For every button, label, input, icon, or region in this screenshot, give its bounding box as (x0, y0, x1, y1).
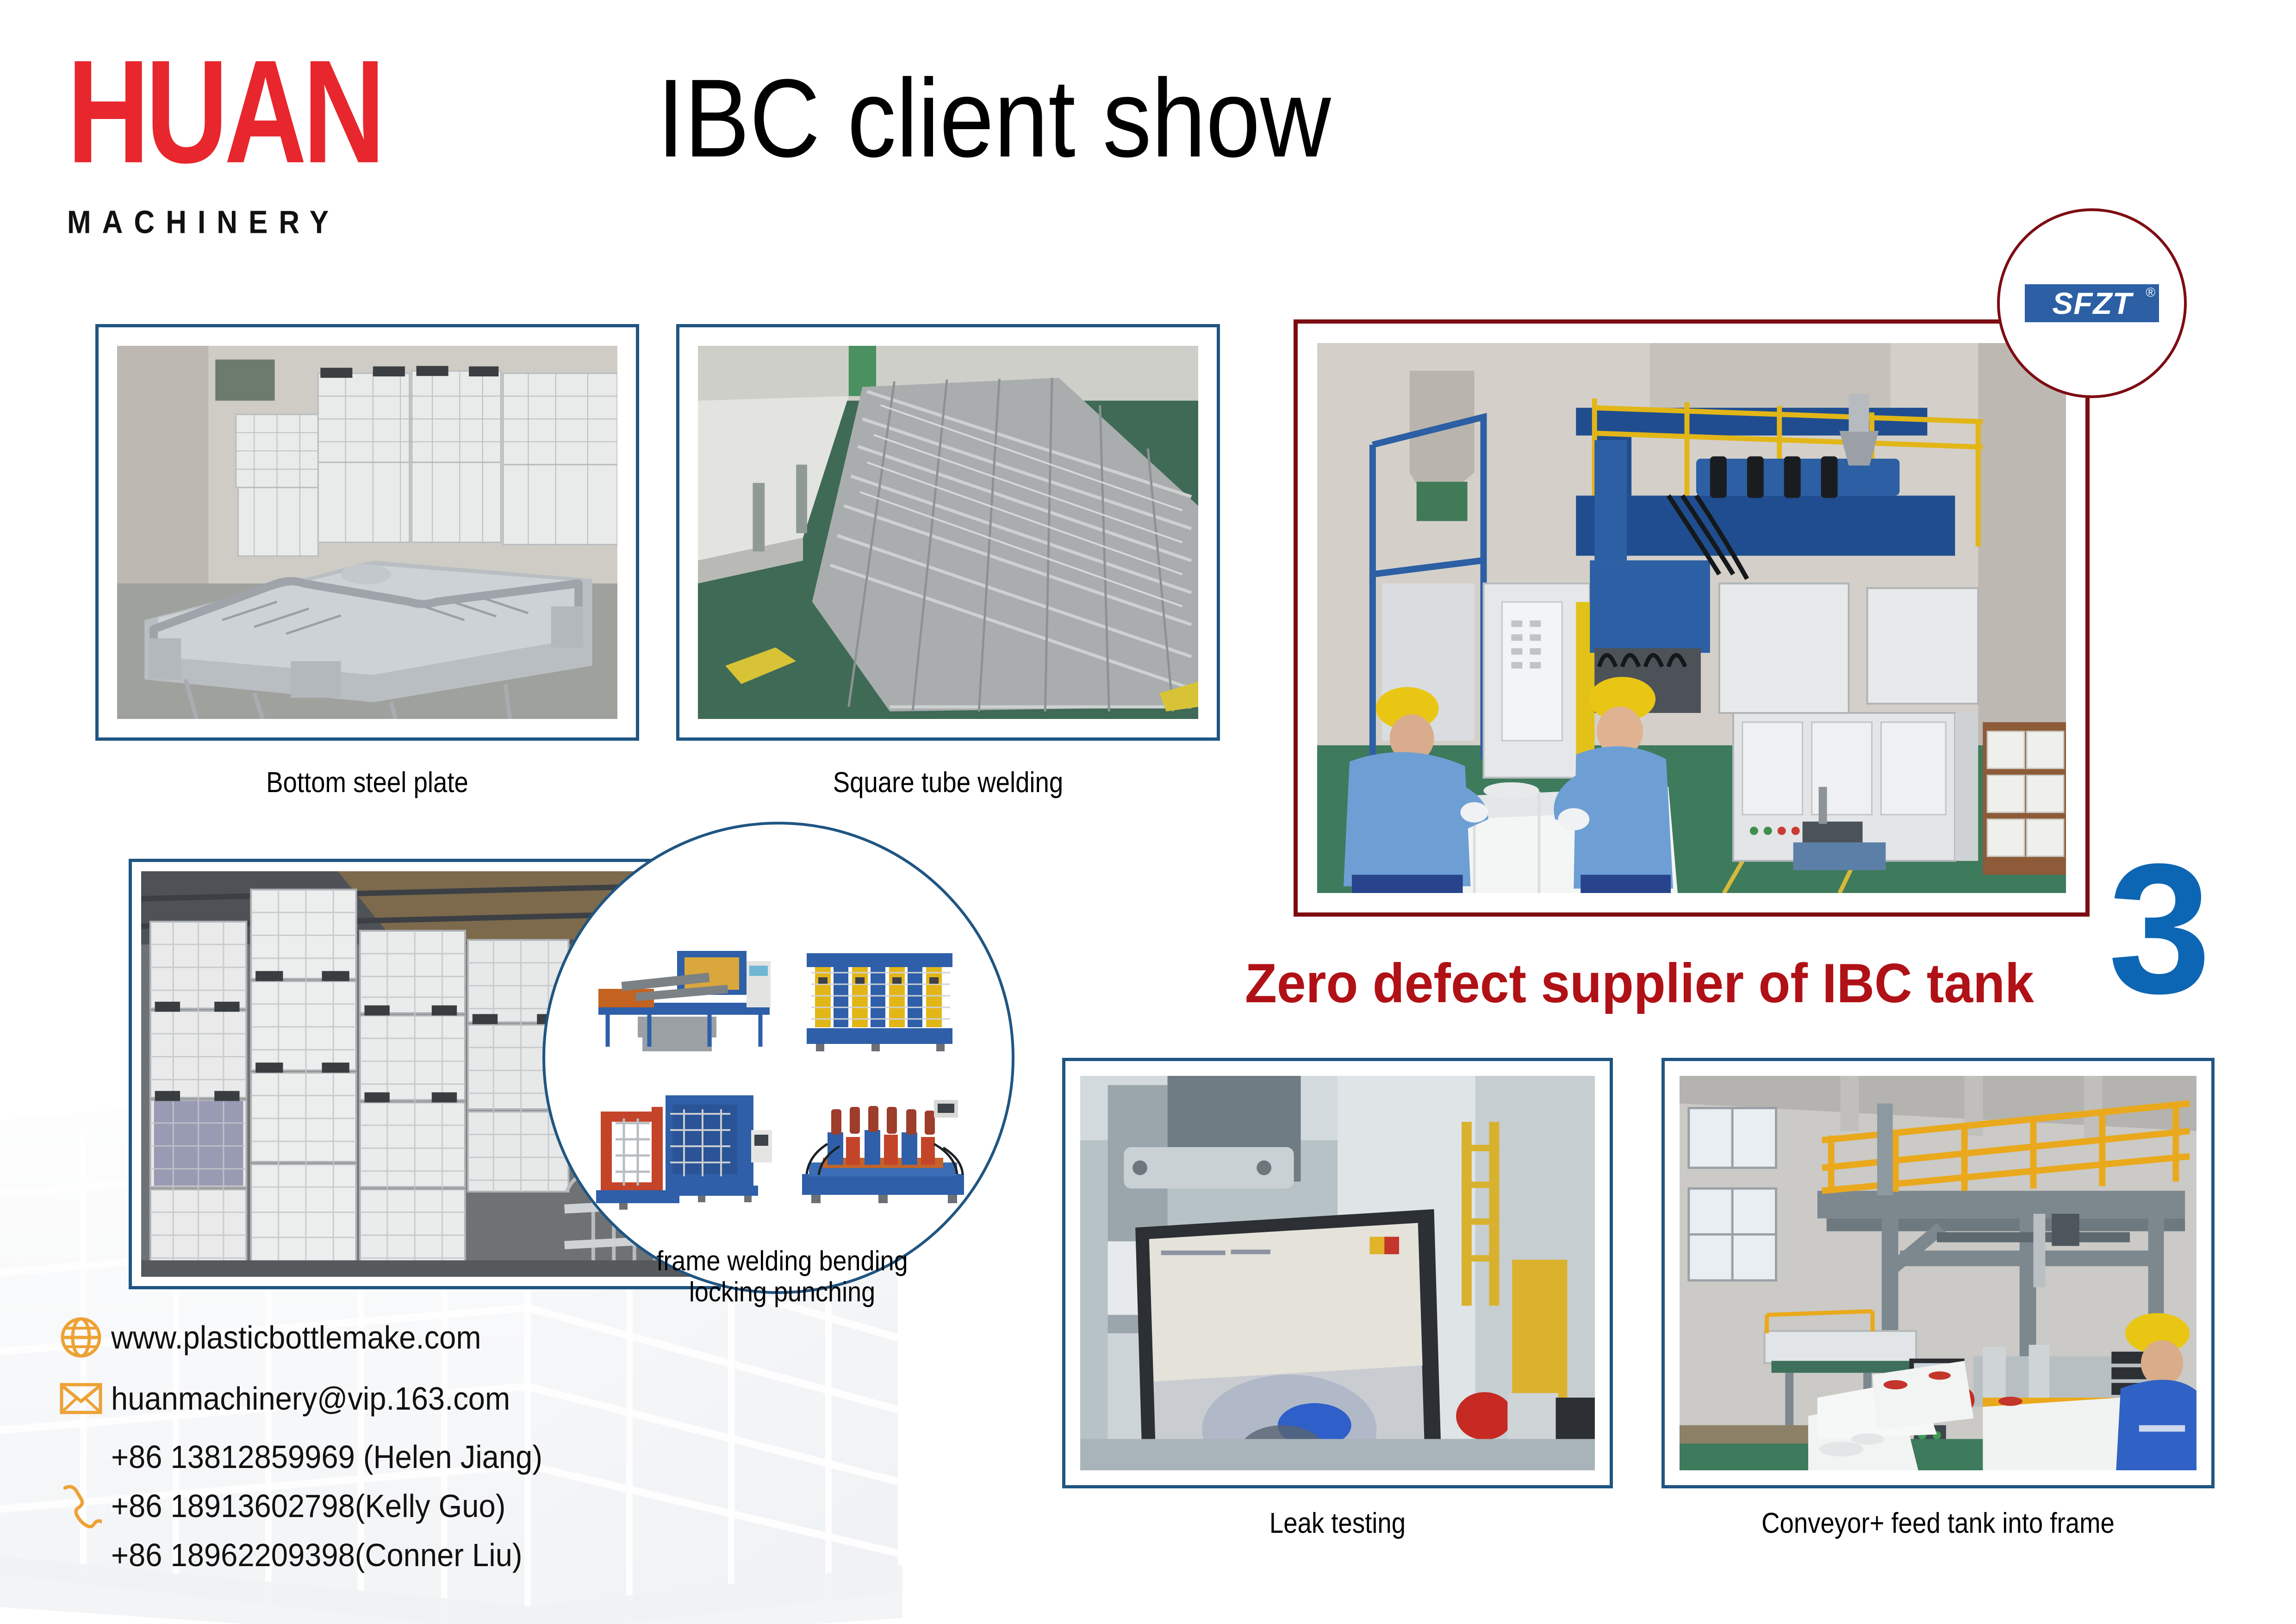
contact-phone-group: +86 13812859969 (Helen Jiang) +86 189136… (51, 1432, 699, 1580)
phone-text-1: +86 13812859969 (Helen Jiang) (111, 1438, 542, 1475)
contact-block: www.plasticbottlemake.com huanmachinery@… (51, 1310, 699, 1580)
photo-frame-conveyor-feed-tank (1661, 1058, 2215, 1488)
logo-wordmark: HUAN (67, 42, 388, 181)
caption-frame-welding-group: frame welding bending locking punching (616, 1245, 949, 1307)
photo-leak-testing (1080, 1076, 1595, 1470)
photo-frame-square-tube-welding (676, 324, 1220, 741)
sfzt-plate: SFZT ® (2025, 284, 2159, 322)
contact-row-email[interactable]: huanmachinery@vip.163.com (51, 1371, 699, 1426)
phone-icon (51, 1484, 111, 1528)
thumb-tube-bending-machine (797, 940, 959, 1056)
photo-ibc-blow-molding-line (1317, 343, 2066, 893)
contact-row-phone-3[interactable]: +86 18962209398(Conner Liu) (51, 1530, 699, 1580)
envelope-icon (51, 1381, 111, 1416)
sfzt-label: SFZT (2052, 286, 2132, 321)
photo-bottom-steel-plate (117, 346, 617, 719)
logo-subtitle: MACHINERY (67, 204, 373, 241)
contact-row-website[interactable]: www.plasticbottlemake.com (51, 1310, 699, 1365)
tagline-zero-defect: Zero defect supplier of IBC tank (1245, 951, 2034, 1015)
thumb-locking-punching-machine (795, 1093, 971, 1209)
photo-square-tube-welding (698, 346, 1198, 719)
phone-text-3: +86 18962209398(Conner Liu) (111, 1537, 523, 1574)
email-text: huanmachinery@vip.163.com (111, 1380, 510, 1417)
machinery-circle-inset (542, 822, 1014, 1294)
thumb-tube-cutting-line (594, 943, 774, 1058)
thumb-frame-welding-machine (591, 1086, 777, 1211)
caption-square-tube-welding: Square tube welding (709, 766, 1188, 799)
page-title: IBC client show (657, 62, 1594, 174)
phone-text-2: +86 18913602798(Kelly Guo) (111, 1487, 505, 1524)
brand-logo: HUAN MACHINERY (67, 42, 373, 227)
globe-icon (51, 1315, 111, 1360)
circ-caption-line2: locking punching (616, 1276, 949, 1307)
slide-number: 3 (2108, 847, 2211, 1010)
contact-row-phone-2[interactable]: +86 18913602798(Kelly Guo) (51, 1481, 699, 1530)
worker (2116, 1313, 2196, 1470)
caption-bottom-steel-plate: Bottom steel plate (128, 766, 607, 799)
photo-frame-ibc-blow-molding-line (1294, 319, 2090, 917)
website-text: www.plasticbottlemake.com (111, 1319, 481, 1356)
caption-leak-testing: Leak testing (1095, 1507, 1580, 1540)
contact-row-phone-1[interactable]: +86 13812859969 (Helen Jiang) (51, 1432, 699, 1481)
poster-canvas: HUAN MACHINERY IBC client show SFZT ® (0, 0, 2296, 1624)
caption-conveyor-feed-tank: Conveyor+ feed tank into frame (1695, 1507, 2182, 1540)
circ-caption-line1: frame welding bending (616, 1245, 949, 1276)
photo-frame-leak-testing (1062, 1058, 1613, 1488)
photo-conveyor-feed-tank (1680, 1076, 2196, 1470)
registered-mark-icon: ® (2146, 285, 2155, 300)
photo-frame-bottom-steel-plate (95, 324, 639, 741)
sfzt-logo-badge: SFZT ® (1997, 208, 2187, 398)
